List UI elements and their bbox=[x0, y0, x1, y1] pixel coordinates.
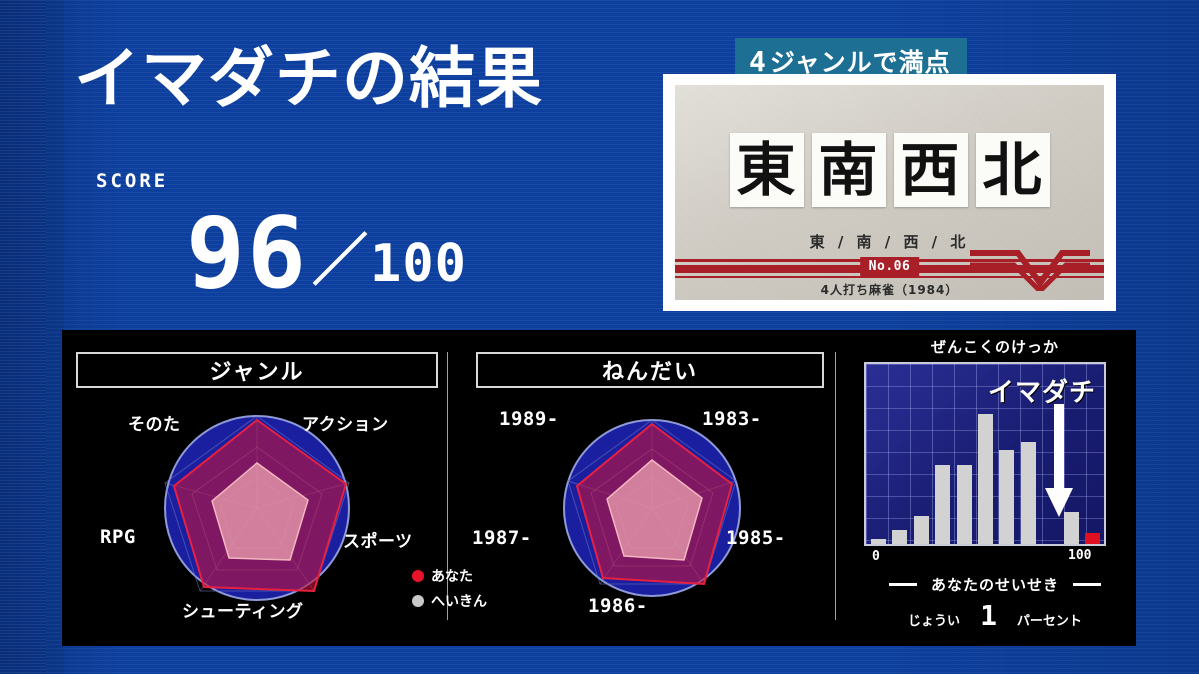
game-card-number: No.06 bbox=[860, 257, 920, 277]
legend-label-you: あなた bbox=[431, 566, 473, 586]
legend-item-you: あなた bbox=[412, 566, 487, 586]
legend-dot-you-icon bbox=[412, 570, 424, 582]
era-radar-chart bbox=[552, 408, 752, 608]
tile-north-glyph: 北 bbox=[983, 141, 1042, 199]
page-title: イマダチの結果 bbox=[74, 46, 543, 112]
era-label-1989: 1989- bbox=[499, 408, 559, 430]
tile-north: 北 bbox=[976, 133, 1050, 207]
rank-suffix: パーセント bbox=[1017, 610, 1082, 629]
tile-east: 東 bbox=[730, 133, 804, 207]
genre-label-shooting: シューティング bbox=[182, 597, 303, 622]
genre-panel-title: ジャンル bbox=[76, 352, 438, 388]
histogram-bar bbox=[1021, 442, 1036, 544]
genre-label-sports: スポーツ bbox=[343, 527, 413, 552]
histogram-axis-min: 0 bbox=[872, 549, 880, 564]
game-card: 東 南 西 北 東 / 南 / 西 / 北 No.06 4人打ち麻雀（1984） bbox=[675, 85, 1104, 300]
histogram-bar bbox=[892, 530, 907, 544]
national-results-histogram: イマダチ bbox=[864, 362, 1106, 546]
era-panel-title: ねんだい bbox=[476, 352, 824, 388]
era-label-1983: 1983- bbox=[702, 408, 762, 430]
histogram-axis-max: 100 bbox=[1068, 548, 1091, 563]
tile-west-glyph: 西 bbox=[901, 141, 960, 199]
histogram-bar-your-score bbox=[1085, 533, 1100, 544]
histogram-bar bbox=[978, 414, 993, 544]
zigzag-decoration bbox=[970, 245, 1090, 291]
era-label-1985: 1985- bbox=[726, 527, 786, 549]
tile-south: 南 bbox=[812, 133, 886, 207]
rule-right bbox=[1073, 583, 1101, 586]
genre-radar-chart bbox=[147, 408, 367, 608]
genre-label-rpg: RPG bbox=[100, 526, 136, 548]
histogram-bar bbox=[999, 450, 1014, 544]
tile-east-glyph: 東 bbox=[737, 141, 796, 199]
score-label: SCORE bbox=[96, 170, 168, 192]
your-result-label: あなたのせいせき bbox=[931, 574, 1059, 595]
score-display: 96 ／ 100 bbox=[186, 212, 467, 296]
histogram-bar bbox=[871, 539, 886, 544]
era-label-1987: 1987- bbox=[472, 527, 532, 549]
era-label-1986: 1986- bbox=[588, 595, 648, 617]
rank-prefix: じょうい bbox=[908, 610, 960, 629]
legend-item-average: へいきん bbox=[412, 591, 487, 611]
histogram-bar bbox=[957, 465, 972, 544]
rule-left bbox=[889, 583, 917, 586]
histogram-bar bbox=[914, 516, 929, 544]
down-arrow-icon bbox=[1044, 404, 1074, 519]
score-max: 100 bbox=[370, 238, 467, 290]
legend-label-average: へいきん bbox=[431, 591, 487, 611]
histogram-title: ぜんこくのけっか bbox=[855, 336, 1135, 357]
score-value: 96 bbox=[186, 212, 308, 296]
histogram-bar bbox=[935, 465, 950, 544]
legend-dot-average-icon bbox=[412, 595, 424, 607]
tile-west: 西 bbox=[894, 133, 968, 207]
result-screen: イマダチの結果 SCORE 96 ／ 100 4 ジャンルで満点 東 南 西 北… bbox=[0, 0, 1199, 674]
genre-label-action: アクション bbox=[302, 410, 389, 435]
histogram-callout-label: イマダチ bbox=[988, 372, 1096, 409]
score-separator: ／ bbox=[312, 234, 368, 290]
rank-row: じょうい 1 パーセント bbox=[855, 602, 1135, 630]
mahjong-tiles: 東 南 西 北 bbox=[675, 133, 1104, 207]
your-result-row: あなたのせいせき bbox=[855, 574, 1135, 595]
rank-value: 1 bbox=[980, 602, 997, 630]
genre-label-other: そのた bbox=[128, 410, 181, 435]
game-card-band: No.06 bbox=[675, 257, 1104, 279]
panel-divider-2 bbox=[835, 352, 836, 620]
radar-legend: あなた へいきん bbox=[412, 566, 487, 616]
tile-south-glyph: 南 bbox=[819, 141, 878, 199]
